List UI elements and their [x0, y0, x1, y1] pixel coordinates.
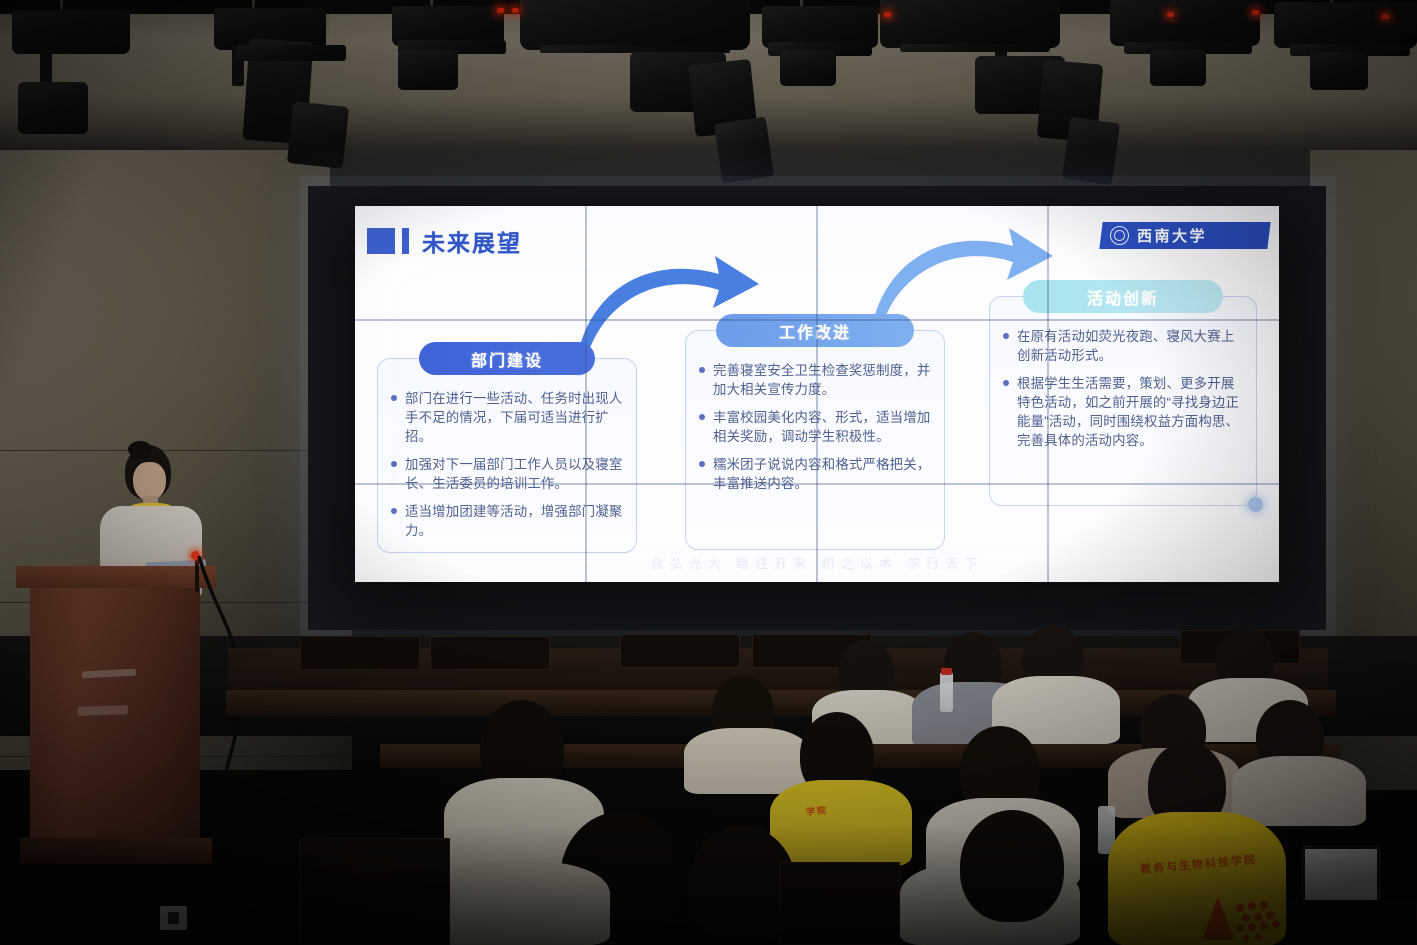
bullet-item: 部门在进行一些活动、任务时出现人手不足的情况，下届可适当进行扩招。: [391, 389, 625, 446]
bullet-dot-icon: [391, 508, 397, 514]
university-seal-icon: [1110, 226, 1129, 245]
bullet-item: 根据学生生活需要，策划、更多开展特色活动，如之前开展的“寻找身边正能量”活动，同…: [1003, 374, 1245, 450]
bullet-dot-icon: [1003, 380, 1009, 386]
light-indicator-led: [1252, 10, 1259, 15]
bullet-item: 适当增加团建等活动，增强部门凝聚力。: [391, 502, 625, 540]
title-accent-block: [367, 228, 395, 254]
bottle-cap: [941, 668, 952, 675]
title-accent-bar: [402, 228, 409, 254]
stage-light-fixture: [12, 10, 130, 54]
video-wall-seam: [1047, 206, 1049, 582]
card-1-header: 部门建设: [419, 342, 595, 375]
video-wall-seam: [585, 206, 587, 582]
seat-back-panel: [430, 636, 550, 670]
university-logo: 西南大学: [1099, 222, 1270, 249]
card-3-header: 活动创新: [1023, 280, 1223, 313]
card-3-body: 在原有活动如荧光夜跑、寝风大赛上创新活动形式。 根据学生生活需要，策划、更多开展…: [1003, 327, 1245, 459]
power-outlet: [160, 906, 187, 930]
audience-shoulders: [684, 728, 810, 794]
video-wall-display[interactable]: 未来展望 西南大学 部门建设: [355, 206, 1279, 582]
tshirt-graphic: [1160, 872, 1290, 945]
university-name: 西南大学: [1137, 225, 1207, 246]
page-title: 未来展望: [422, 224, 522, 258]
light-indicator-led: [512, 8, 519, 13]
video-wall-seam: [355, 319, 1279, 321]
podium-top: [16, 566, 216, 588]
card-department-construction[interactable]: 部门建设 部门在进行一些活动、任务时出现人手不足的情况，下届可适当进行扩招。 加…: [377, 358, 637, 553]
slide-title-group: 未来展望: [367, 224, 522, 258]
light-indicator-led: [497, 8, 504, 13]
auditorium-scene: 未来展望 西南大学 部门建设: [0, 0, 1417, 945]
podium-body: [30, 588, 200, 838]
water-bottle: [940, 672, 953, 712]
bullet-dot-icon: [699, 461, 705, 467]
tshirt-text: 学院: [805, 803, 828, 818]
seat-back-panel: [300, 636, 420, 670]
card-1-body: 部门在进行一些活动、任务时出现人手不足的情况，下届可适当进行扩招。 加强对下一届…: [391, 389, 625, 549]
stage-light-fixture: [1110, 0, 1260, 46]
seat-back-foreground: [1286, 900, 1417, 945]
bullet-dot-icon: [699, 367, 705, 373]
light-indicator-led: [1167, 12, 1174, 17]
seat-back-foreground: [780, 862, 900, 945]
video-wall-seam: [355, 483, 1279, 485]
stage-light-fixture: [880, 0, 1060, 48]
decorative-dot: [1248, 497, 1263, 512]
audience-shoulders: [430, 862, 610, 945]
bullet-item: 加强对下一届部门工作人员以及寝室长、生活委员的培训工作。: [391, 455, 625, 493]
stage-light-fixture: [520, 0, 750, 50]
card-work-improvement[interactable]: 工作改进 完善寝室安全卫生检查奖惩制度，并加大相关宣传力度。 丰富校园美化内容、…: [685, 330, 945, 550]
podium-base: [20, 838, 212, 864]
bullet-item: 在原有活动如荧光夜跑、寝风大赛上创新活动形式。: [1003, 327, 1245, 365]
audience-shoulders: [1232, 756, 1366, 826]
video-wall-seam: [816, 206, 818, 582]
bullet-dot-icon: [391, 461, 397, 467]
bullet-dot-icon: [699, 414, 705, 420]
floor-vent: [233, 904, 261, 930]
card-activity-innovation[interactable]: 活动创新 在原有活动如荧光夜跑、寝风大赛上创新活动形式。 根据学生生活需要，策划…: [989, 296, 1257, 506]
bullet-dot-icon: [1003, 333, 1009, 339]
stage-light-fixture: [1274, 2, 1417, 48]
audience-head: [960, 810, 1064, 922]
light-indicator-led: [884, 12, 891, 17]
light-indicator-led: [1382, 14, 1389, 19]
bullet-dot-icon: [391, 395, 397, 401]
audience-shoulders: [770, 780, 912, 866]
seat-back-panel: [620, 634, 740, 668]
presenter-hair-bun: [128, 441, 152, 458]
seat-back-foreground: [300, 838, 450, 945]
